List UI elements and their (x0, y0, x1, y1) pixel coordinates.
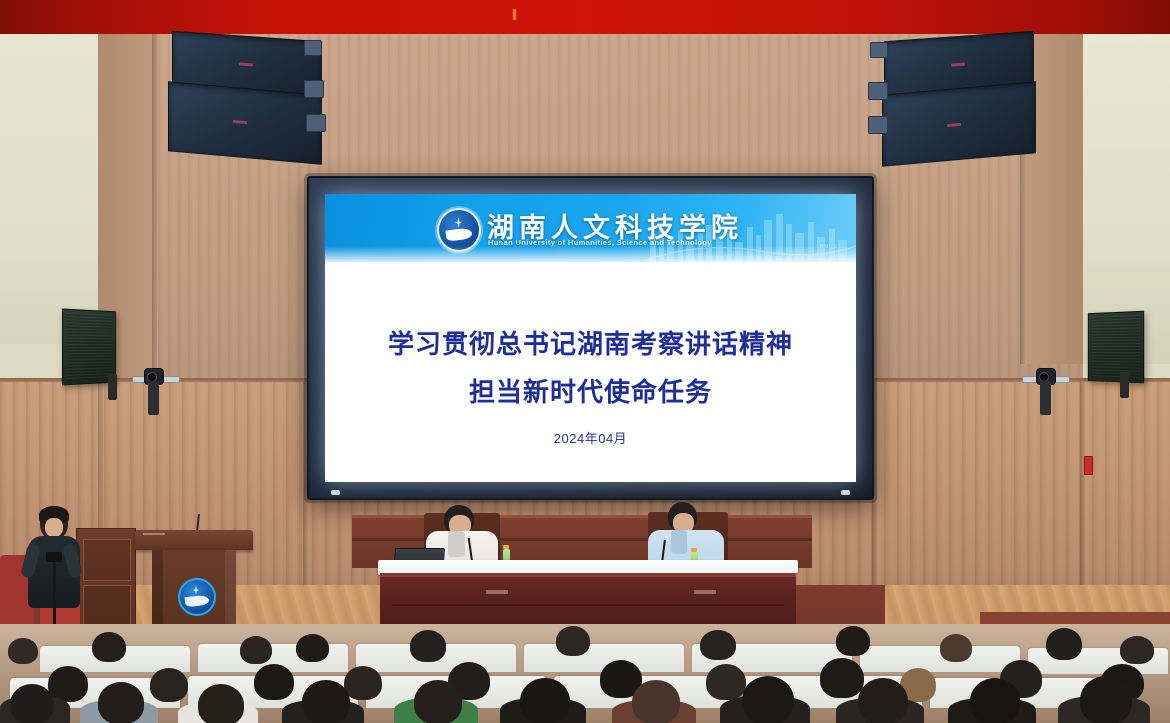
operator-face (45, 518, 63, 537)
slide-date: 2024年04月 (325, 428, 856, 447)
array-led (239, 62, 253, 66)
array-led (947, 123, 961, 127)
slide-header-band: 湖南人文科技学院 Hunan University of Humanities,… (325, 194, 856, 262)
screen-mount-right (841, 490, 850, 495)
podium-top-highlight (143, 533, 165, 535)
audience-head (742, 676, 794, 723)
emblem-swoosh-icon (185, 595, 210, 607)
line-array-speaker-left (168, 36, 348, 166)
wall-left-cream-panel (0, 34, 98, 344)
audience-head (706, 664, 746, 700)
audience-head (632, 680, 680, 723)
camera-post (148, 381, 159, 415)
table-groove (392, 604, 784, 606)
fire-alarm-icon (1084, 456, 1093, 475)
person-collar (671, 530, 687, 554)
array-port (306, 114, 326, 132)
array-port (870, 42, 888, 58)
array-port (304, 40, 322, 56)
banner-glint (513, 9, 516, 20)
table-panel-handle (486, 590, 508, 594)
audience-head (8, 638, 38, 664)
array-port (868, 82, 888, 100)
slide-surface: 湖南人文科技学院 Hunan University of Humanities,… (325, 194, 856, 482)
wall-seam-left (152, 34, 157, 382)
audience-head (198, 684, 244, 723)
array-led (951, 63, 965, 67)
audience-head (556, 626, 590, 656)
array-module-right-2 (882, 81, 1036, 166)
table-panel-handle (694, 590, 716, 594)
logo-swoosh-icon (445, 227, 472, 241)
table-body (380, 573, 796, 630)
audience-head (10, 684, 54, 723)
array-port (868, 116, 888, 134)
camera-operator (22, 508, 102, 638)
slide-title-line-2: 担当新时代使命任务 (325, 372, 856, 409)
audience-head (240, 636, 272, 664)
array-led (233, 120, 247, 124)
auditorium-scene: 湖南人文科技学院 Hunan University of Humanities,… (0, 0, 1170, 723)
emblem-spark-icon (193, 585, 199, 595)
audience-head (836, 626, 870, 656)
audience-head (92, 632, 126, 662)
logo-spark-icon (455, 217, 462, 228)
audience-head (410, 630, 446, 662)
table-cloth (378, 560, 798, 573)
audience-head (296, 634, 329, 662)
audience-head (98, 682, 144, 723)
array-port (304, 80, 324, 98)
wall-speaker-bracket-right (1120, 372, 1129, 398)
audience-seating: 13 (0, 624, 1170, 723)
red-banner (0, 0, 1170, 34)
audience-head (254, 664, 294, 700)
screen-mount-left (331, 490, 340, 495)
audience-head (1120, 636, 1154, 664)
array-module-left-2 (168, 81, 322, 164)
podium-top (135, 530, 253, 550)
slide-title-line-1: 学习贯彻总书记湖南考察讲话精神 (325, 324, 856, 361)
audience-head (344, 666, 382, 700)
bottle-cap-right (691, 548, 697, 552)
camera-body-icon (46, 552, 62, 562)
person-collar (448, 531, 465, 557)
bottle-cap-left (503, 545, 509, 549)
audience-head (150, 668, 188, 702)
podium-emblem-icon (178, 578, 216, 616)
wall-speaker-bracket-left (108, 374, 117, 400)
camera-post (1040, 381, 1051, 415)
audience-head (1080, 676, 1132, 723)
projection-screen[interactable]: 湖南人文科技学院 Hunan University of Humanities,… (307, 176, 874, 500)
audience-head (302, 680, 350, 723)
speaker-grill (1091, 315, 1140, 379)
audience-head (700, 630, 736, 660)
line-array-speaker-right (862, 36, 1042, 172)
audience-head (858, 678, 908, 723)
table-edge (380, 573, 796, 577)
audience-head (940, 634, 972, 662)
head-table (378, 560, 798, 630)
audience-head (520, 678, 570, 723)
audience-head (414, 680, 462, 723)
wall-speaker-right (1088, 311, 1144, 384)
audience-head (820, 658, 864, 698)
slide-body: 学习贯彻总书记湖南考察讲话精神 担当新时代使命任务 2024年04月 (325, 262, 856, 482)
audience-head (1046, 628, 1082, 660)
speaker-grill (66, 313, 112, 381)
audience-head (970, 678, 1020, 723)
